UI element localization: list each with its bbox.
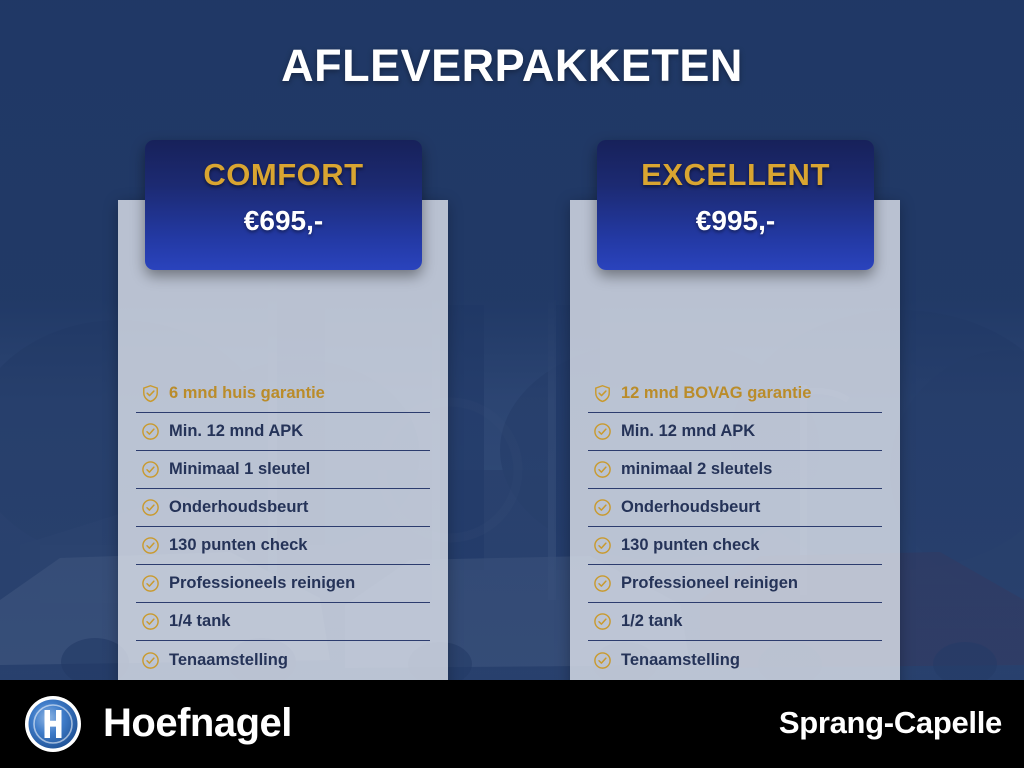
circle-check-icon bbox=[593, 612, 612, 631]
circle-check-icon bbox=[141, 536, 160, 555]
circle-check-icon bbox=[593, 536, 612, 555]
package-tier-name: COMFORT bbox=[145, 157, 422, 193]
feature-label: Min. 12 mnd APK bbox=[621, 422, 755, 441]
feature-list-excellent: 12 mnd BOVAG garantie Min. 12 mnd APK mi… bbox=[588, 375, 882, 679]
circle-check-icon bbox=[141, 612, 160, 631]
feature-row: 12 mnd BOVAG garantie bbox=[588, 375, 882, 413]
package-header-comfort: COMFORT €695,- bbox=[145, 140, 422, 270]
feature-label: 1/2 tank bbox=[621, 612, 682, 631]
page-title: AFLEVERPAKKETEN bbox=[0, 40, 1024, 92]
feature-label: Minimaal 1 sleutel bbox=[169, 460, 310, 479]
package-card-comfort: COMFORT €695,- 6 mnd huis garantie Min. … bbox=[118, 140, 448, 270]
feature-label: 6 mnd huis garantie bbox=[169, 384, 325, 403]
shield-check-icon bbox=[593, 384, 612, 403]
feature-label: Onderhoudsbeurt bbox=[621, 498, 760, 517]
feature-row: 1/4 tank bbox=[136, 603, 430, 641]
circle-check-icon bbox=[593, 498, 612, 517]
feature-label: Min. 12 mnd APK bbox=[169, 422, 303, 441]
feature-row: Min. 12 mnd APK bbox=[588, 413, 882, 451]
package-price: €995,- bbox=[597, 205, 874, 237]
feature-label: 1/4 tank bbox=[169, 612, 230, 631]
circle-check-icon bbox=[141, 651, 160, 670]
feature-list-comfort: 6 mnd huis garantie Min. 12 mnd APK Mini… bbox=[136, 375, 430, 679]
feature-label: 12 mnd BOVAG garantie bbox=[621, 384, 811, 403]
package-tier-name: EXCELLENT bbox=[597, 157, 874, 193]
feature-row: 1/2 tank bbox=[588, 603, 882, 641]
circle-check-icon bbox=[141, 574, 160, 593]
footer-brand-name: Hoefnagel bbox=[103, 701, 292, 746]
circle-check-icon bbox=[141, 460, 160, 479]
feature-label: 130 punten check bbox=[621, 536, 759, 555]
feature-row: Minimaal 1 sleutel bbox=[136, 451, 430, 489]
footer-bar: Hoefnagel Sprang-Capelle bbox=[0, 680, 1024, 768]
circle-check-icon bbox=[593, 574, 612, 593]
circle-check-icon bbox=[141, 498, 160, 517]
feature-row: Tenaamstelling bbox=[588, 641, 882, 679]
feature-row: Tenaamstelling bbox=[136, 641, 430, 679]
footer-location: Sprang-Capelle bbox=[779, 705, 1002, 741]
feature-row: 130 punten check bbox=[588, 527, 882, 565]
shield-check-icon bbox=[141, 384, 160, 403]
feature-row: 130 punten check bbox=[136, 527, 430, 565]
package-card-excellent: EXCELLENT €995,- 12 mnd BOVAG garantie M… bbox=[570, 140, 900, 270]
feature-row: minimaal 2 sleutels bbox=[588, 451, 882, 489]
feature-label: Onderhoudsbeurt bbox=[169, 498, 308, 517]
feature-row: Professioneel reinigen bbox=[588, 565, 882, 603]
feature-label: minimaal 2 sleutels bbox=[621, 460, 772, 479]
circle-check-icon bbox=[593, 460, 612, 479]
feature-label: Professioneel reinigen bbox=[621, 574, 798, 593]
feature-row: Min. 12 mnd APK bbox=[136, 413, 430, 451]
circle-check-icon bbox=[141, 422, 160, 441]
feature-row: Onderhoudsbeurt bbox=[588, 489, 882, 527]
feature-label: Tenaamstelling bbox=[169, 651, 288, 670]
hoefnagel-logo-icon bbox=[23, 694, 83, 754]
feature-row: Onderhoudsbeurt bbox=[136, 489, 430, 527]
feature-label: Tenaamstelling bbox=[621, 651, 740, 670]
package-price: €695,- bbox=[145, 205, 422, 237]
feature-row: 6 mnd huis garantie bbox=[136, 375, 430, 413]
feature-row: Professioneels reinigen bbox=[136, 565, 430, 603]
feature-label: 130 punten check bbox=[169, 536, 307, 555]
circle-check-icon bbox=[593, 422, 612, 441]
package-header-excellent: EXCELLENT €995,- bbox=[597, 140, 874, 270]
feature-label: Professioneels reinigen bbox=[169, 574, 355, 593]
circle-check-icon bbox=[593, 651, 612, 670]
